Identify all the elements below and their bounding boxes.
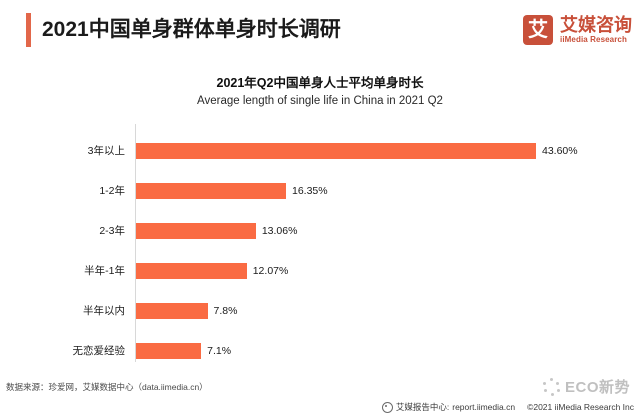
- bar-row: 无恋爱经验7.1%: [0, 342, 640, 360]
- eco-watermark-label: ECO新势: [565, 376, 630, 397]
- bar-category-label: 半年-1年: [0, 262, 125, 280]
- page-title: 2021中国单身群体单身时长调研: [42, 13, 341, 47]
- bar-value-label: 7.8%: [214, 302, 238, 320]
- bar-category-label: 2-3年: [0, 222, 125, 240]
- report-url-link[interactable]: report.iimedia.cn: [452, 402, 515, 412]
- bar: [136, 223, 256, 239]
- bar: [136, 343, 201, 359]
- bar-value-label: 13.06%: [262, 222, 298, 240]
- data-source-note: 数据来源：珍爱网，艾媒数据中心（data.iimedia.cn）: [6, 381, 208, 393]
- page-header: 2021中国单身群体单身时长调研 艾 艾媒咨询 iiMedia Research: [0, 0, 640, 58]
- bar-row: 1-2年16.35%: [0, 182, 640, 200]
- bar-chart: 3年以上43.60%1-2年16.35%2-3年13.06%半年-1年12.07…: [0, 122, 640, 362]
- eco-dots-icon: [543, 378, 561, 396]
- brand-logo: 艾 艾媒咨询 iiMedia Research: [523, 12, 632, 48]
- bar-value-label: 7.1%: [207, 342, 231, 360]
- eco-watermark: ECO新势: [543, 376, 630, 397]
- bar-category-label: 1-2年: [0, 182, 125, 200]
- bar: [136, 263, 247, 279]
- bar-category-label: 无恋爱经验: [0, 342, 125, 360]
- bar-category-label: 3年以上: [0, 142, 125, 160]
- brand-name-cn: 艾媒咨询: [560, 16, 632, 35]
- bar-category-label: 半年以内: [0, 302, 125, 320]
- bar-row: 2-3年13.06%: [0, 222, 640, 240]
- bar-value-label: 16.35%: [292, 182, 328, 200]
- bar: [136, 183, 286, 199]
- bar-row: 3年以上43.60%: [0, 142, 640, 160]
- footer-bar: 艾媒报告中心: report.iimedia.cn ©2021 iiMedia …: [0, 398, 640, 416]
- brand-name-en: iiMedia Research: [560, 35, 632, 45]
- report-badge-icon: [382, 402, 393, 413]
- copyright-label: ©2021 iiMedia Research Inc: [527, 402, 634, 412]
- bar-row: 半年以内7.8%: [0, 302, 640, 320]
- brand-mark-icon: 艾: [523, 15, 553, 45]
- chart-subtitle: Average length of single life in China i…: [0, 95, 640, 107]
- bar-row: 半年-1年12.07%: [0, 262, 640, 280]
- brand-text: 艾媒咨询 iiMedia Research: [560, 16, 632, 45]
- bar: [136, 143, 536, 159]
- bar-value-label: 12.07%: [253, 262, 289, 280]
- report-center-label: 艾媒报告中心:: [396, 401, 449, 413]
- chart-title: 2021年Q2中国单身人士平均单身时长: [0, 72, 640, 91]
- bar: [136, 303, 208, 319]
- header-accent-bar: [26, 13, 31, 47]
- bar-value-label: 43.60%: [542, 142, 578, 160]
